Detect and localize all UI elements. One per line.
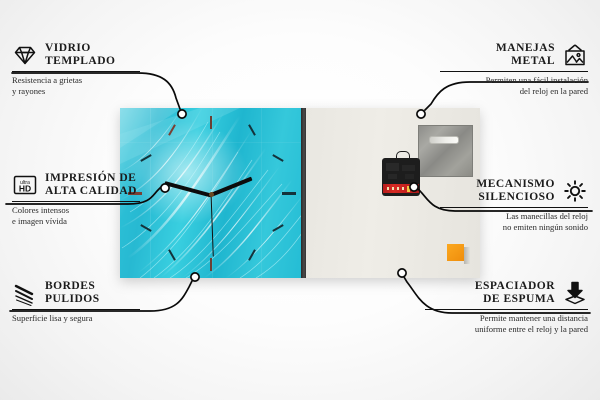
clock-front-panel bbox=[120, 108, 304, 278]
feature-description: Superficie lisa y segura bbox=[12, 313, 140, 324]
feature-manejas-metal[interactable]: MANEJASMETAL Permiten una fácil instalac… bbox=[440, 42, 588, 96]
feature-header: BORDESPULIDOS bbox=[12, 280, 140, 306]
hour-hand bbox=[210, 177, 252, 197]
feature-title: IMPRESIÓN DEALTA CALIDAD bbox=[45, 172, 137, 198]
divider bbox=[12, 71, 140, 72]
battery-compartment bbox=[383, 184, 419, 193]
foam-spacer bbox=[447, 244, 464, 261]
clock-hub bbox=[209, 192, 214, 197]
feature-header: MECANISMOSILENCIOSO bbox=[440, 178, 588, 204]
feature-description: Resistencia a grietas y rayones bbox=[12, 75, 140, 96]
infographic-canvas: VIDRIOTEMPLADO Resistencia a grietas y r… bbox=[0, 0, 600, 400]
svg-text:HD: HD bbox=[19, 184, 31, 194]
feature-description: Las manecillas del reloj no emiten ningú… bbox=[440, 211, 588, 232]
hanger-slot bbox=[429, 136, 459, 144]
feature-description: Permite mantener una distancia uniforme … bbox=[425, 313, 588, 334]
feature-header: VIDRIOTEMPLADO bbox=[12, 42, 140, 68]
feature-description: Colores intensos e imagen vívida bbox=[12, 205, 140, 226]
polished-edges-icon bbox=[12, 280, 38, 306]
divider bbox=[12, 309, 140, 310]
feature-bordes-pulidos[interactable]: BORDESPULIDOS Superficie lisa y segura bbox=[12, 280, 140, 324]
feature-vidrio-templado[interactable]: VIDRIOTEMPLADO Resistencia a grietas y r… bbox=[12, 42, 140, 96]
feature-mecanismo-silencioso[interactable]: MECANISMOSILENCIOSO Las manecillas del r… bbox=[440, 178, 588, 232]
clock-hands bbox=[120, 108, 304, 278]
product-photo bbox=[120, 108, 480, 278]
feature-header: MANEJASMETAL bbox=[440, 42, 588, 68]
feature-title: ESPACIADORDE ESPUMA bbox=[475, 280, 555, 306]
feature-espaciador-de-espuma[interactable]: ESPACIADORDE ESPUMA Permite mantener una… bbox=[425, 280, 588, 334]
down-arrow-box-icon bbox=[562, 280, 588, 306]
divider bbox=[425, 309, 588, 310]
feature-header: ultra HD IMPRESIÓN DEALTA CALIDAD bbox=[12, 172, 140, 198]
feature-impresion-alta-calidad[interactable]: ultra HD IMPRESIÓN DEALTA CALIDAD Colore… bbox=[12, 172, 140, 226]
feature-title: MANEJASMETAL bbox=[496, 42, 555, 68]
feature-header: ESPACIADORDE ESPUMA bbox=[425, 280, 588, 306]
gear-icon bbox=[562, 178, 588, 204]
foam-spacer-shadow bbox=[464, 247, 470, 264]
metal-hanger-plate bbox=[418, 125, 473, 177]
feature-title: BORDESPULIDOS bbox=[45, 280, 100, 306]
picture-frame-hanger-icon bbox=[562, 42, 588, 68]
feature-description: Permiten una fácil instalación del reloj… bbox=[440, 75, 588, 96]
second-hand bbox=[210, 195, 213, 257]
feature-title: VIDRIOTEMPLADO bbox=[45, 42, 115, 68]
feature-title: MECANISMOSILENCIOSO bbox=[476, 178, 555, 204]
ultra-hd-icon: ultra HD bbox=[12, 172, 38, 198]
minute-hand bbox=[164, 181, 211, 197]
divider bbox=[12, 201, 140, 202]
divider bbox=[440, 71, 588, 72]
mechanism-detail bbox=[386, 163, 416, 181]
divider bbox=[440, 207, 588, 208]
diamond-icon bbox=[12, 42, 38, 68]
